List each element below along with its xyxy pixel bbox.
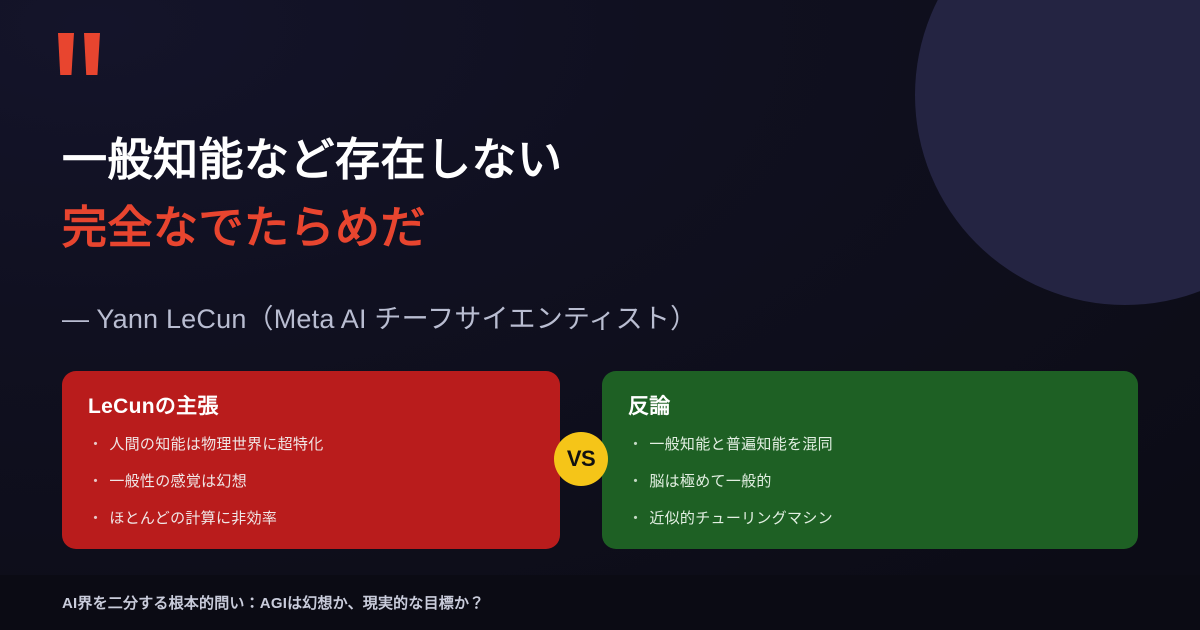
list-item: ・脳は極めて一般的 <box>628 474 1112 489</box>
vs-badge-label: VS <box>567 446 595 472</box>
list-item-label: 近似的チューリングマシン <box>649 510 833 527</box>
list-item: ・人間の知能は物理世界に超特化 <box>88 437 534 452</box>
list-item: ・近似的チューリングマシン <box>628 511 1112 526</box>
card-lecun-claim: LeCunの主張 ・人間の知能は物理世界に超特化 ・一般性の感覚は幻想 ・ほとん… <box>62 371 560 549</box>
bullet-icon: ・ <box>88 511 103 526</box>
card-left-list: ・人間の知能は物理世界に超特化 ・一般性の感覚は幻想 ・ほとんどの計算に非効率 <box>88 437 534 526</box>
quote-bar-right <box>84 33 100 75</box>
bullet-icon: ・ <box>628 474 643 489</box>
list-item-label: 一般知能と普遍知能を混同 <box>649 436 833 453</box>
list-item: ・一般知能と普遍知能を混同 <box>628 437 1112 452</box>
card-content: 一般知能など存在しない 完全なでたらめだ — Yann LeCun（Meta A… <box>0 0 1200 630</box>
list-item-label: 脳は極めて一般的 <box>649 473 771 490</box>
bullet-icon: ・ <box>628 437 643 452</box>
headline-line-2: 完全なでたらめだ <box>62 194 942 262</box>
double-quote-icon <box>58 33 114 77</box>
list-item-label: 人間の知能は物理世界に超特化 <box>109 436 323 453</box>
list-item-label: ほとんどの計算に非効率 <box>109 510 277 527</box>
quote-card-canvas: 一般知能など存在しない 完全なでたらめだ — Yann LeCun（Meta A… <box>0 0 1200 630</box>
quote-bar-left <box>58 33 74 75</box>
card-right-list: ・一般知能と普遍知能を混同 ・脳は極めて一般的 ・近似的チューリングマシン <box>628 437 1112 526</box>
footer-bar: AI界を二分する根本的問い：AGIは幻想か、現実的な目標か？ <box>0 575 1200 630</box>
bullet-icon: ・ <box>88 437 103 452</box>
list-item: ・ほとんどの計算に非効率 <box>88 511 534 526</box>
footer-text: AI界を二分する根本的問い：AGIは幻想か、現実的な目標か？ <box>62 592 484 613</box>
list-item: ・一般性の感覚は幻想 <box>88 474 534 489</box>
bullet-icon: ・ <box>88 474 103 489</box>
bullet-icon: ・ <box>628 511 643 526</box>
headline-block: 一般知能など存在しない 完全なでたらめだ <box>62 126 942 263</box>
card-counterargument: 反論 ・一般知能と普遍知能を混同 ・脳は極めて一般的 ・近似的チューリングマシン <box>602 371 1138 549</box>
headline-line-1: 一般知能など存在しない <box>62 126 942 194</box>
card-left-title: LeCunの主張 <box>88 390 534 420</box>
vs-badge: VS <box>554 432 608 486</box>
list-item-label: 一般性の感覚は幻想 <box>109 473 247 490</box>
attribution-text: — Yann LeCun（Meta AI チーフサイエンティスト） <box>62 297 697 336</box>
card-right-title: 反論 <box>628 390 1112 420</box>
